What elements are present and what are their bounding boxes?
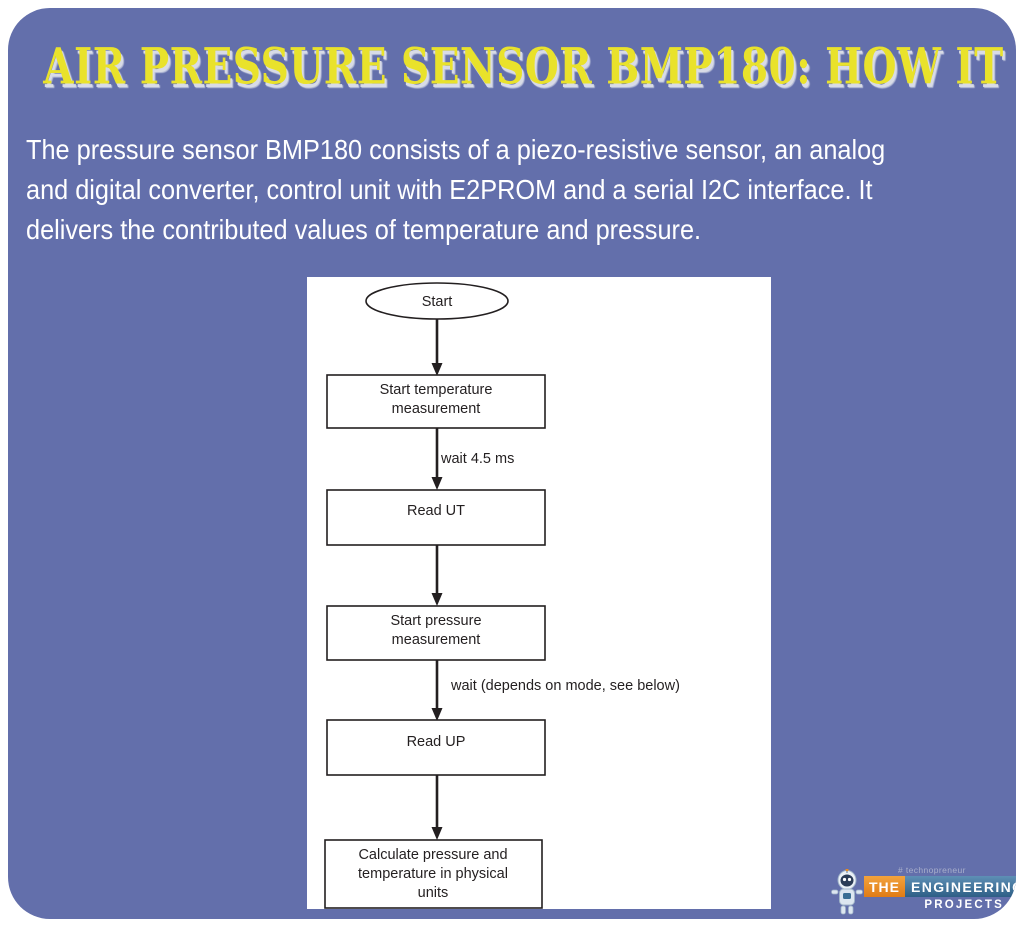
flow-node-calculate-line3: units [418,885,449,901]
logo-word-projects: PROJECTS [924,899,1004,911]
flow-node-read-ut: Read UT [327,490,545,545]
intro-paragraph: The pressure sensor BMP180 consists of a… [26,130,907,250]
flow-node-calculate-line2: temperature in physical [358,866,508,882]
brand-logo[interactable]: # technopreneur THE ENGINEERING PROJECTS [826,863,1010,919]
logo-word-the: THE [864,876,905,897]
flow-node-read-up: Read UP [327,720,545,775]
flow-arrow-start-to-temp [432,319,443,376]
flow-node-calculate-line1: Calculate pressure and [358,847,507,863]
flow-arrow-press-to-read-up: wait (depends on mode, see below) [432,660,680,721]
page-title: AIR PRESSURE SENSOR BMP180: HOW IT WORKS [43,42,980,92]
flow-edge-label-wait-pressure: wait (depends on mode, see below) [450,678,680,694]
flow-node-calculate: Calculate pressure and temperature in ph… [325,840,542,908]
flow-arrow-temp-to-read-ut: wait 4.5 ms [432,428,515,490]
flowchart-panel: Start Start temperature measurement wait… [307,277,771,909]
flowchart-diagram: Start Start temperature measurement wait… [307,277,771,909]
flow-arrow-read-up-to-calculate [432,775,443,840]
intro-text: The pressure sensor BMP180 consists of a… [26,130,907,250]
flow-edge-label-wait-temp: wait 4.5 ms [440,451,514,467]
robot-mascot-icon [830,869,864,915]
flow-node-start-temperature-line2: measurement [392,401,481,417]
logo-wordmark: THE ENGINEERING [864,876,1016,897]
flow-node-start: Start [366,283,508,319]
logo-tagline: # technopreneur [898,865,966,875]
poster-card: AIR PRESSURE SENSOR BMP180: HOW IT WORKS… [8,8,1016,919]
flow-node-read-up-label: Read UP [407,734,466,750]
flow-arrow-read-ut-to-press [432,545,443,606]
flow-node-read-ut-label: Read UT [407,503,465,519]
flow-node-start-pressure: Start pressure measurement [327,606,545,660]
flow-node-start-pressure-line1: Start pressure [390,613,481,629]
logo-word-engineering: ENGINEERING [905,876,1016,897]
flow-node-start-label: Start [422,294,453,310]
flow-node-start-temperature: Start temperature measurement [327,375,545,428]
flow-node-start-temperature-line1: Start temperature [380,382,493,398]
flow-node-start-pressure-line2: measurement [392,632,481,648]
